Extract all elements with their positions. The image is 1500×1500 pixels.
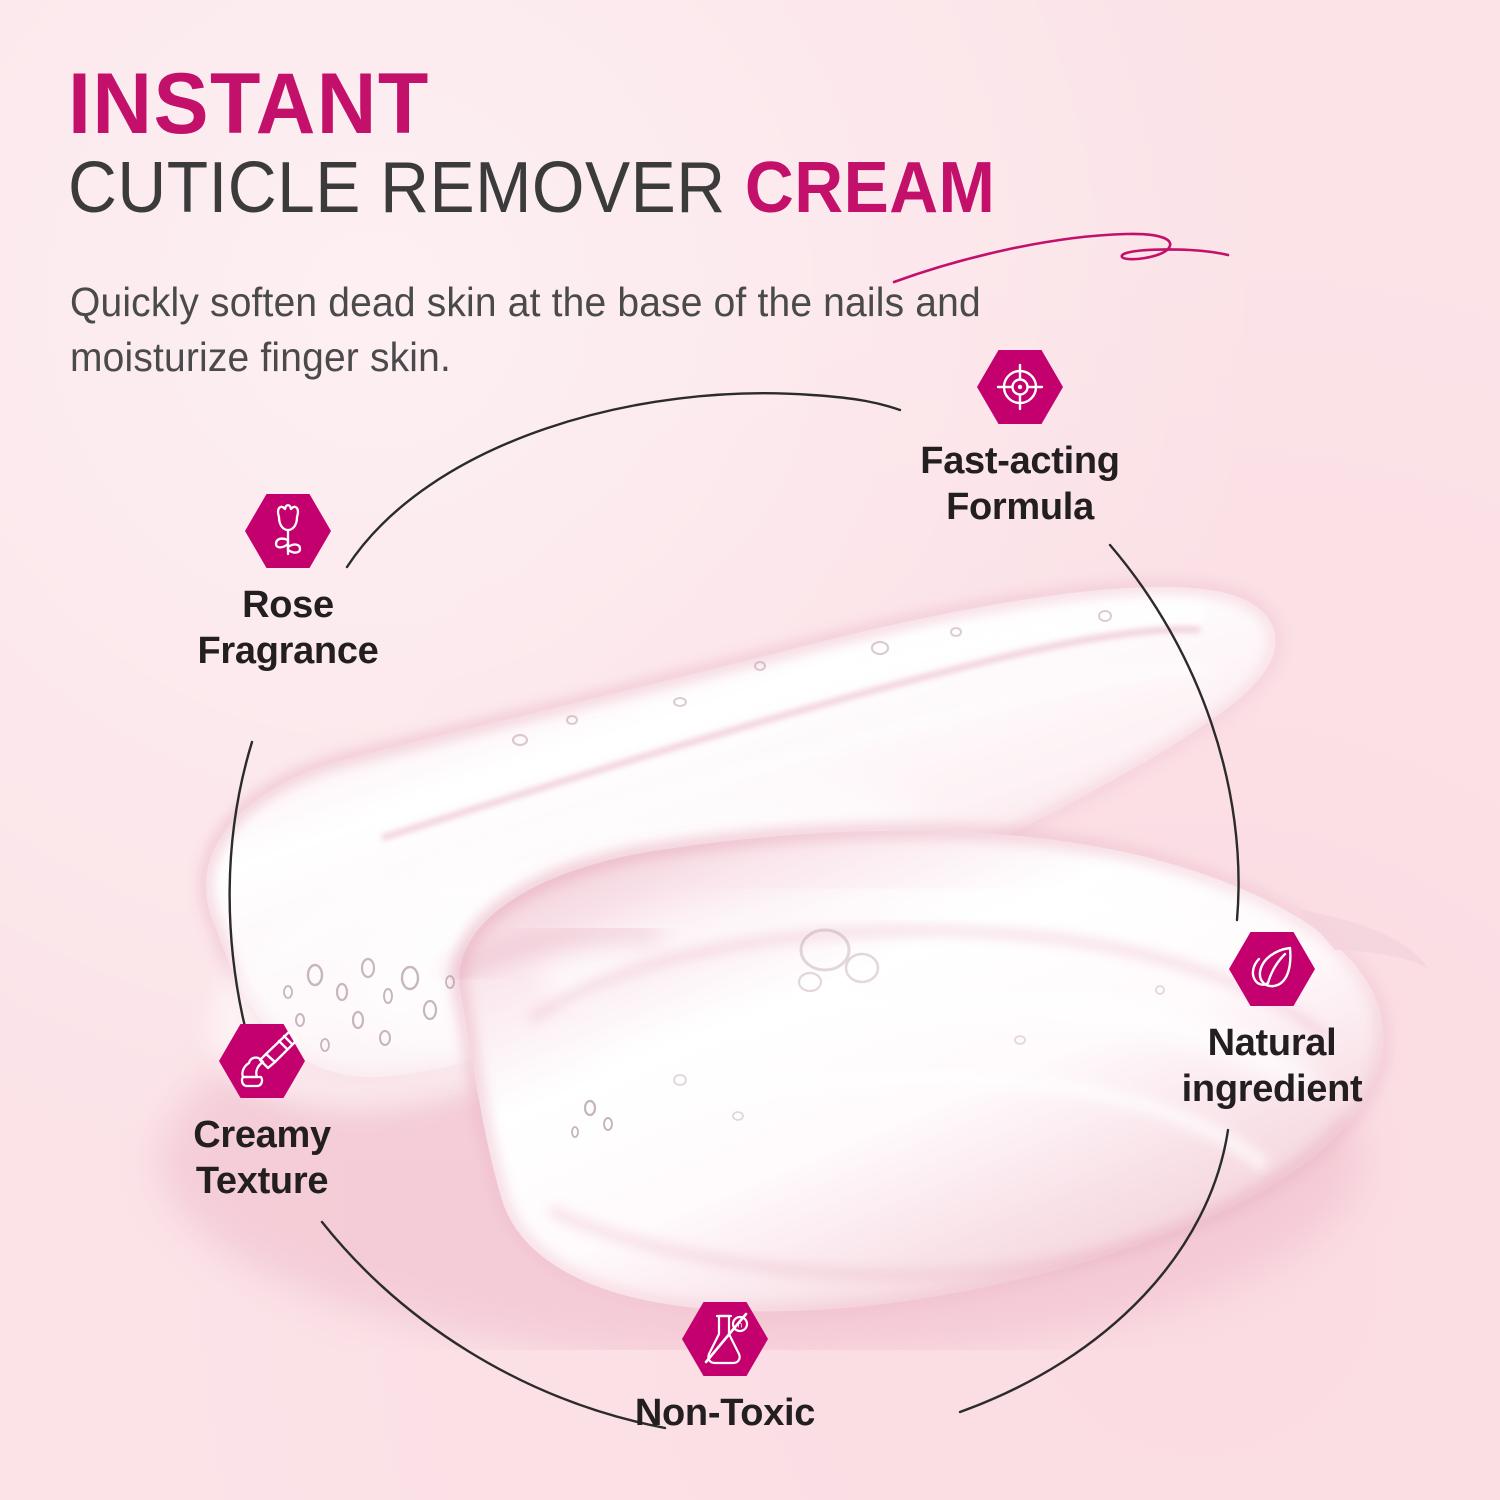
badge-natural-ingredient [1229, 930, 1315, 1008]
product-infographic: INSTANT CUTICLE REMOVER CREAM Quickly so… [0, 0, 1500, 1500]
arc-rose-to-fast [347, 393, 900, 567]
feature-label-natural-ingredient: Natural ingredient [1182, 1020, 1363, 1113]
page-title-line2: CUTICLE REMOVER CREAM [68, 152, 1234, 224]
feature-natural-ingredient[interactable]: Natural ingredient [1132, 930, 1412, 1113]
arc-fast-to-natural [1110, 545, 1239, 920]
feature-label-fast-acting: Fast-acting Formula [920, 438, 1119, 531]
feature-fast-acting[interactable]: Fast-acting Formula [880, 348, 1160, 531]
feature-rose-fragrance[interactable]: Rose Fragrance [148, 492, 428, 675]
feature-label-rose-fragrance: Rose Fragrance [197, 582, 378, 675]
badge-non-toxic: n [682, 1300, 768, 1378]
arc-creamy-to-rose [230, 742, 253, 1058]
page-title-line1: INSTANT [68, 62, 1258, 146]
feature-non-toxic[interactable]: n Non-Toxic [585, 1300, 865, 1436]
header-block: INSTANT CUTICLE REMOVER CREAM [68, 62, 1308, 224]
page-title-line2-accent: CREAM [745, 148, 996, 228]
badge-fast-acting [977, 348, 1063, 426]
badge-rose-fragrance [245, 492, 331, 570]
badge-creamy-texture [219, 1022, 305, 1100]
feature-label-creamy-texture: Creamy Texture [193, 1112, 331, 1205]
page-title-line2-prefix: CUTICLE REMOVER [68, 148, 745, 228]
feature-label-non-toxic: Non-Toxic [635, 1390, 815, 1436]
arc-natural-to-nontoxic [960, 1130, 1228, 1412]
feature-creamy-texture[interactable]: Creamy Texture [122, 1022, 402, 1205]
